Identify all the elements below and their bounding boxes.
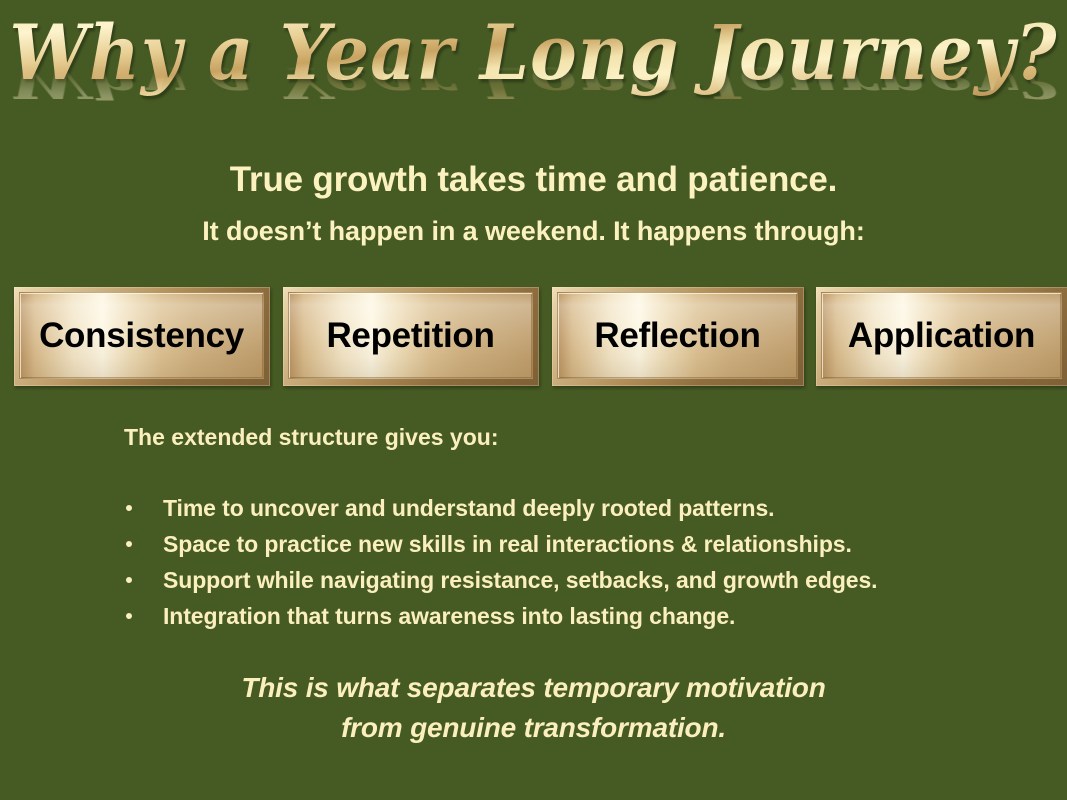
list-item-label: Space to practice new skills in real int…	[163, 531, 852, 557]
pillar-box-label: Consistency	[39, 316, 244, 356]
pillar-box-label: Application	[848, 316, 1035, 356]
list-item: Integration that turns awareness into la…	[124, 600, 1004, 635]
list-item-label: Integration that turns awareness into la…	[163, 603, 735, 629]
pillar-box-label: Reflection	[594, 316, 760, 356]
pillar-box-application[interactable]: Application	[816, 287, 1067, 386]
pillar-box-face: Repetition	[288, 292, 533, 379]
slide-title-block: Why a Year Long Journey? Why a Year Long…	[0, 18, 1067, 148]
bullet-dot-icon	[126, 613, 132, 619]
page-title: Why a Year Long Journey?	[9, 15, 1057, 91]
subheading-secondary: It doesn’t happen in a weekend. It happe…	[0, 216, 1067, 247]
pillar-box-label: Repetition	[326, 316, 494, 356]
page-title-text: Why a Year Long Journey?	[9, 8, 1057, 98]
pillar-box-consistency[interactable]: Consistency	[14, 287, 270, 386]
list-item: Support while navigating resistance, set…	[124, 564, 1004, 599]
pillar-box-reflection[interactable]: Reflection	[552, 287, 804, 386]
pillar-box-face: Application	[821, 292, 1062, 379]
pillar-box-face: Reflection	[557, 292, 798, 379]
closing-statement: This is what separates temporary motivat…	[0, 668, 1067, 748]
list-item: Space to practice new skills in real int…	[124, 528, 1004, 563]
list-item-label: Time to uncover and understand deeply ro…	[163, 495, 774, 521]
list-item: Time to uncover and understand deeply ro…	[124, 492, 1004, 527]
list-item-label: Support while navigating resistance, set…	[163, 567, 877, 593]
subheading-primary: True growth takes time and patience.	[0, 160, 1067, 200]
pillar-box-repetition[interactable]: Repetition	[283, 287, 539, 386]
pillar-box-row: Consistency Repetition Reflection Applic…	[14, 287, 1054, 386]
closing-statement-line1: This is what separates temporary motivat…	[0, 668, 1067, 708]
slide-canvas: Why a Year Long Journey? Why a Year Long…	[0, 0, 1067, 800]
closing-statement-line2: from genuine transformation.	[0, 708, 1067, 748]
body-lead-in: The extended structure gives you:	[124, 424, 498, 451]
bullet-dot-icon	[126, 541, 132, 547]
benefits-bullet-list: Time to uncover and understand deeply ro…	[124, 492, 1004, 636]
bullet-dot-icon	[126, 577, 132, 583]
bullet-dot-icon	[126, 505, 132, 511]
pillar-box-face: Consistency	[19, 292, 264, 379]
